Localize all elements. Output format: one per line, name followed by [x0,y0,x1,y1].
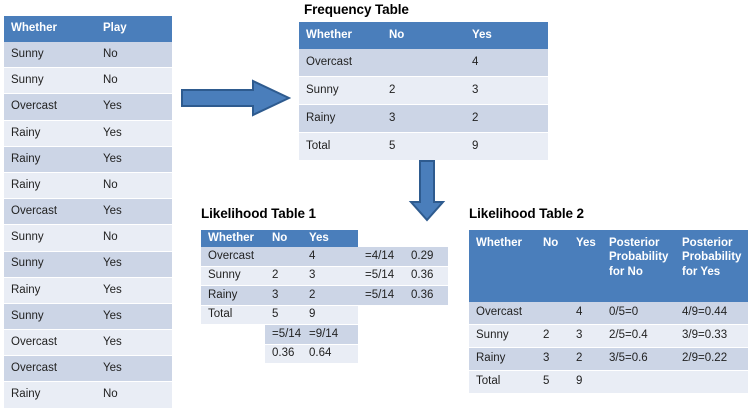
table-row: OvercastYes [4,199,172,225]
table-row: RainyYes [4,120,172,146]
cell-whether: Rainy [4,146,96,172]
cell-posterior-no [602,371,675,394]
column-header-no: No [536,230,569,302]
column-header-yes: Yes [569,230,602,302]
cell-play: Yes [96,277,172,303]
cell-play: Yes [96,356,172,382]
table-row: Overcast 4 0/5=0 4/9=0.44 [469,302,748,325]
source-dataset-table: Whether Play SunnyNo SunnyNo OvercastYes… [4,16,172,409]
likelihood-table-1-title: Likelihood Table 1 [201,206,316,221]
table-header-row: Whether No Yes [201,230,448,247]
column-header-no: No [382,22,465,49]
cell-whether: Sunny [4,225,96,251]
arrow-right-icon [181,78,291,118]
column-header-whether: Whether [469,230,536,302]
cell-fraction: =5/14 [358,286,404,306]
cell-posterior-yes [675,371,748,394]
column-header-yes: Yes [302,230,358,247]
cell-whether: Total [469,371,536,394]
cell-yes: 9 [465,133,548,161]
table-row: Rainy 3 2 =5/14 0.36 [201,286,448,306]
cell-whether: Rainy [469,348,536,371]
table-row: SunnyYes [4,303,172,329]
cell-yes: 9 [302,305,358,325]
cell-no: 3 [382,105,465,133]
cell-posterior-no: 3/5=0.6 [602,348,675,371]
cell-play: No [96,42,172,68]
cell-play: No [96,382,172,408]
table-row: OvercastYes [4,94,172,120]
table-header-row: Whether Play [4,16,172,42]
cell-empty [358,305,404,325]
cell-whether: Rainy [4,172,96,198]
cell-yes: 3 [569,325,602,348]
column-header-whether: Whether [4,16,96,42]
cell-whether: Rainy [299,105,382,133]
diagram-canvas: Whether Play SunnyNo SunnyNo OvercastYes… [0,0,751,411]
cell-whether: Sunny [469,325,536,348]
cell-no: 2 [536,325,569,348]
table-row: Total 5 9 [201,305,448,325]
cell-whether: Overcast [201,247,265,266]
cell-no: 5 [382,133,465,161]
column-header-whether: Whether [299,22,382,49]
table-row: Overcast 4 =4/14 0.29 [201,247,448,266]
cell-whether: Total [299,133,382,161]
cell-empty [358,325,404,345]
arrow-down-icon [407,160,447,222]
cell-no-decimal: 0.36 [265,344,302,364]
likelihood-table-2-title: Likelihood Table 2 [469,206,584,221]
cell-no [265,247,302,266]
cell-yes: 2 [569,348,602,371]
table-row: Total59 [299,133,548,161]
cell-decimal: 0.36 [404,266,448,286]
cell-play: Yes [96,303,172,329]
cell-whether: Rainy [201,286,265,306]
cell-empty [404,325,448,345]
column-header-no: No [265,230,302,247]
cell-whether: Overcast [469,302,536,325]
cell-play: No [96,172,172,198]
cell-no: 5 [265,305,302,325]
cell-empty [358,344,404,364]
column-header-posterior-no: Posterior Probability for No [602,230,675,302]
table-row: OvercastYes [4,356,172,382]
table-row: Overcast4 [299,49,548,77]
table-row: RainyNo [4,382,172,408]
cell-no: 2 [382,77,465,105]
cell-whether: Rainy [4,120,96,146]
table-row: SunnyNo [4,68,172,94]
cell-whether: Overcast [4,94,96,120]
cell-empty [404,344,448,364]
frequency-table: Whether No Yes Overcast4 Sunny23 Rainy32… [299,22,548,161]
cell-no [382,49,465,77]
table-row: SunnyNo [4,42,172,68]
cell-posterior-yes: 4/9=0.44 [675,302,748,325]
column-header-decimal [404,230,448,247]
table-row: SunnyYes [4,251,172,277]
frequency-table-title: Frequency Table [304,2,409,17]
cell-whether: Sunny [201,266,265,286]
cell-whether: Overcast [4,356,96,382]
cell-play: Yes [96,330,172,356]
column-header-play: Play [96,16,172,42]
cell-play: Yes [96,146,172,172]
table-row: Rainy32 [299,105,548,133]
cell-whether: Overcast [4,330,96,356]
cell-whether: Rainy [4,382,96,408]
cell-no: 2 [265,266,302,286]
cell-play: Yes [96,94,172,120]
cell-yes: 2 [302,286,358,306]
cell-fraction: =5/14 [358,266,404,286]
cell-fraction: =4/14 [358,247,404,266]
cell-yes: 4 [465,49,548,77]
cell-yes-fraction: =9/14 [302,325,358,345]
cell-no: 5 [536,371,569,394]
table-row: =5/14 =9/14 [201,325,448,345]
cell-empty [201,325,265,345]
cell-whether: Sunny [4,42,96,68]
cell-no-fraction: =5/14 [265,325,302,345]
cell-play: Yes [96,199,172,225]
cell-play: No [96,225,172,251]
cell-play: Yes [96,251,172,277]
cell-empty [201,344,265,364]
cell-yes: 3 [302,266,358,286]
cell-empty [404,305,448,325]
table-row: 0.36 0.64 [201,344,448,364]
table-row: RainyYes [4,146,172,172]
cell-yes: 2 [465,105,548,133]
table-row: Sunny23 [299,77,548,105]
table-header-row: Whether No Yes Posterior Probability for… [469,230,748,302]
table-row: RainyNo [4,172,172,198]
cell-posterior-no: 2/5=0.4 [602,325,675,348]
cell-yes: 3 [465,77,548,105]
cell-yes: 4 [569,302,602,325]
column-header-yes: Yes [465,22,548,49]
table-row: Rainy 3 2 3/5=0.6 2/9=0.22 [469,348,748,371]
cell-whether: Overcast [299,49,382,77]
cell-no: 3 [536,348,569,371]
cell-play: Yes [96,120,172,146]
table-header-row: Whether No Yes [299,22,548,49]
cell-posterior-no: 0/5=0 [602,302,675,325]
table-row: RainyYes [4,277,172,303]
cell-no: 3 [265,286,302,306]
cell-posterior-yes: 2/9=0.22 [675,348,748,371]
table-row: Sunny 2 3 =5/14 0.36 [201,266,448,286]
likelihood-table-1: Whether No Yes Overcast 4 =4/14 0.29 Sun… [201,230,448,364]
cell-decimal: 0.36 [404,286,448,306]
column-header-fraction [358,230,404,247]
cell-whether: Sunny [4,251,96,277]
table-row: Total 5 9 [469,371,748,394]
cell-play: No [96,68,172,94]
cell-no [536,302,569,325]
cell-yes: 9 [569,371,602,394]
table-row: SunnyNo [4,225,172,251]
table-row: Sunny 2 3 2/5=0.4 3/9=0.33 [469,325,748,348]
cell-posterior-yes: 3/9=0.33 [675,325,748,348]
cell-yes: 4 [302,247,358,266]
cell-whether: Sunny [4,303,96,329]
cell-whether: Overcast [4,199,96,225]
likelihood-table-2: Whether No Yes Posterior Probability for… [469,230,748,394]
cell-whether: Sunny [4,68,96,94]
cell-whether: Sunny [299,77,382,105]
table-row: OvercastYes [4,330,172,356]
cell-whether: Total [201,305,265,325]
cell-whether: Rainy [4,277,96,303]
column-header-posterior-yes: Posterior Probability for Yes [675,230,748,302]
cell-decimal: 0.29 [404,247,448,266]
cell-yes-decimal: 0.64 [302,344,358,364]
column-header-whether: Whether [201,230,265,247]
